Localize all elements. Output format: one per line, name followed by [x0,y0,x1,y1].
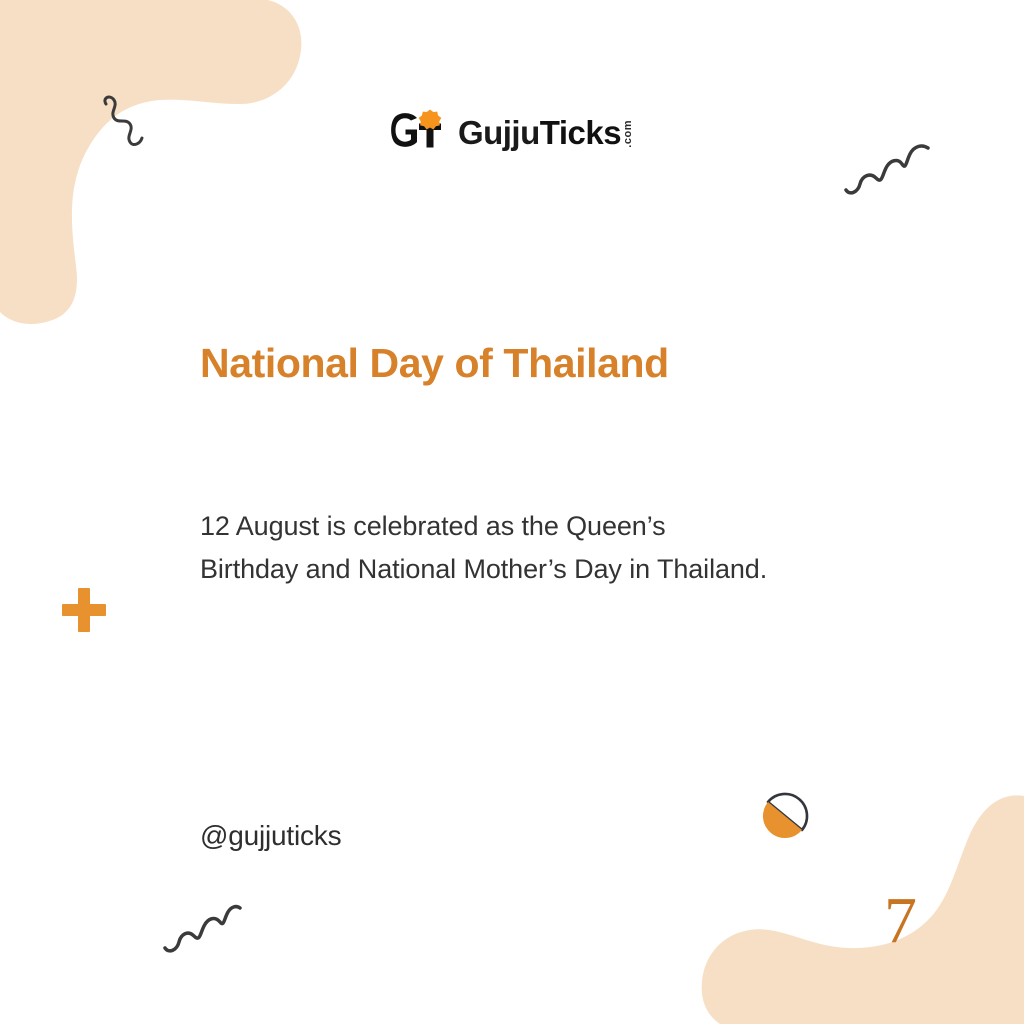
half-circle-icon [758,788,814,844]
wordmark-gujju: Gujju [458,116,540,149]
brand-logo[interactable]: Gujju Ticks .com [0,108,1024,156]
squiggle-icon-bottom-left [160,898,244,956]
body-text: 12 August is celebrated as the Queen’s B… [200,505,770,590]
page-title: National Day of Thailand [200,340,920,387]
wordmark-ticks: Ticks [540,116,621,149]
decorative-blob-top-left [0,0,320,330]
page-number: 7 [884,888,917,954]
plus-icon [62,588,106,632]
social-post-canvas: Gujju Ticks .com National Day of Thailan… [0,0,1024,1024]
plus-icon-vertical-bar [78,588,90,632]
social-handle: @gujjuticks [200,820,341,852]
brand-wordmark: Gujju Ticks .com [458,116,634,149]
wordmark-tld: .com [623,120,634,148]
gt-monogram-icon [390,109,448,155]
decorative-blob-bottom-right [674,774,1024,1024]
